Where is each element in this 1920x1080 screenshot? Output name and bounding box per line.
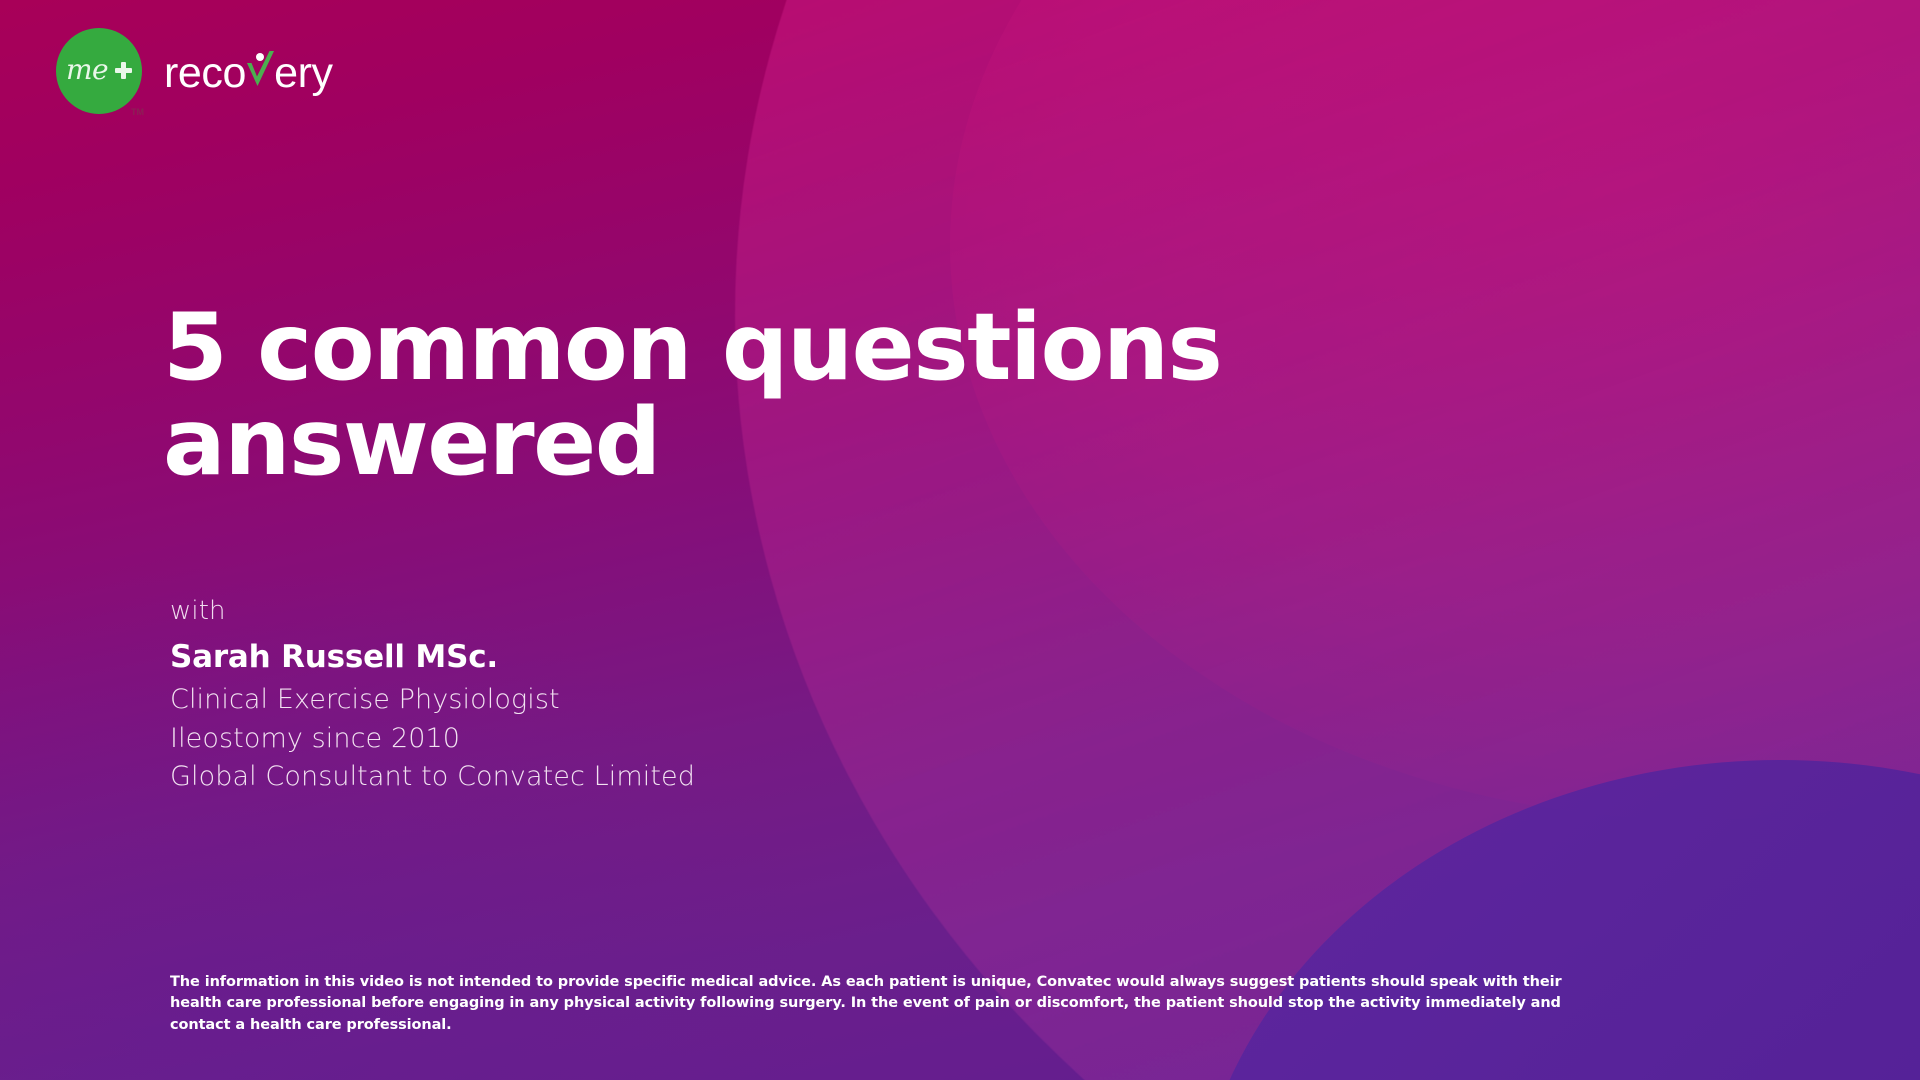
presenter-block: with Sarah Russell MSc. Clinical Exercis… bbox=[170, 594, 695, 796]
green-check-v-icon bbox=[245, 47, 275, 87]
trademark-mark: TM bbox=[131, 107, 144, 117]
badge-me-text: me bbox=[66, 56, 108, 84]
badge-inner: me bbox=[66, 56, 132, 84]
presenter-credential-item: Clinical Exercise Physiologist bbox=[170, 681, 695, 719]
presentation-slide: me TM reco ery 5 common questions answer… bbox=[0, 0, 1920, 1080]
presenter-credentials: Clinical Exercise Physiologist Ileostomy… bbox=[170, 681, 695, 796]
me-plus-badge-icon: me TM bbox=[56, 28, 142, 114]
presenter-name: Sarah Russell MSc. bbox=[170, 637, 695, 677]
slide-title-line-1: 5 common questions bbox=[163, 300, 1283, 395]
slide-title: 5 common questions answered bbox=[163, 300, 1283, 490]
slide-title-line-2: answered bbox=[163, 395, 1283, 490]
background-sweep-shape bbox=[735, 0, 1920, 1080]
wordmark-prefix: reco bbox=[164, 52, 246, 95]
presenter-credential-item: Ileostomy since 2010 bbox=[170, 720, 695, 758]
presenter-credential-item: Global Consultant to Convatec Limited bbox=[170, 758, 695, 796]
medical-disclaimer: The information in this video is not int… bbox=[170, 972, 1600, 1036]
presenter-with-label: with bbox=[170, 594, 695, 629]
recovery-wordmark: reco ery bbox=[164, 47, 333, 95]
plus-icon bbox=[115, 62, 132, 79]
brand-logo: me TM reco ery bbox=[56, 27, 333, 115]
wordmark-suffix: ery bbox=[274, 52, 333, 95]
